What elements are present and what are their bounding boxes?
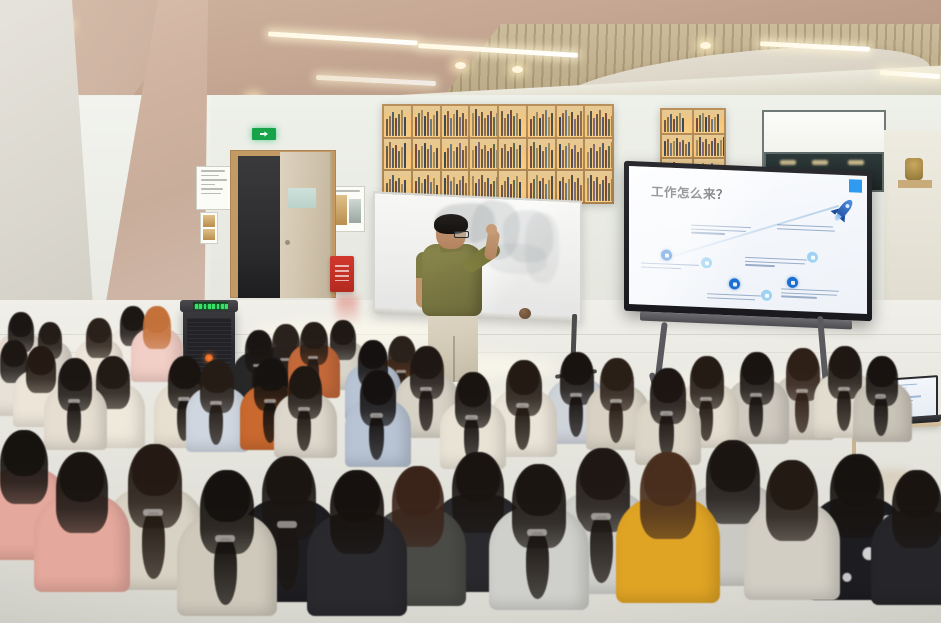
book-spine [484, 145, 486, 168]
hair-tie [210, 401, 222, 405]
speaker-display [193, 302, 228, 310]
book-spine [702, 113, 704, 132]
wall-panel-right [884, 130, 941, 310]
audience-person-head [145, 308, 169, 333]
bookshelf-cell [528, 106, 555, 137]
book-spine [608, 146, 610, 169]
audience-person-head [868, 358, 896, 387]
book-spine [673, 119, 675, 132]
hair-tie [277, 521, 296, 528]
ceiling-downlight [512, 66, 523, 73]
door-open-gap [238, 156, 280, 298]
audience-person-head [256, 360, 285, 391]
bookshelf-left [382, 104, 614, 204]
bookshelf-cell [470, 139, 497, 170]
slide-step-node-6 [807, 251, 818, 262]
hair-tie [875, 394, 887, 398]
wall-poster-notice [196, 166, 234, 210]
audience-person-head [88, 320, 110, 343]
bookshelf-cell [413, 139, 440, 170]
book-spine [481, 112, 483, 136]
book-spine [401, 110, 403, 135]
book-spine [447, 148, 449, 168]
audience-person-head [170, 358, 199, 389]
book-spine [478, 142, 480, 168]
door-handle[interactable] [285, 240, 290, 245]
book-spine [472, 150, 474, 168]
audience-person-head [334, 473, 380, 522]
audience-person-head [10, 314, 32, 337]
audience-person-head [28, 348, 54, 375]
book-spine [468, 116, 469, 136]
book-spine [513, 143, 515, 169]
audience-person-head [396, 469, 441, 516]
book-spine [682, 140, 684, 157]
audience-person-head [60, 360, 89, 391]
book-spine [421, 146, 423, 168]
rocket-icon [827, 194, 859, 227]
bookshelf-cell [442, 139, 469, 170]
book-spine [605, 176, 607, 201]
book-spine [444, 115, 446, 135]
bookshelf-cell [442, 106, 469, 137]
book-spine [386, 119, 388, 135]
audience-person-ponytail [874, 396, 887, 436]
interactive-display-unit[interactable]: 工作怎么来？ [624, 166, 879, 341]
book-spine [510, 110, 512, 136]
book-spine [688, 142, 690, 157]
hair-tie [516, 403, 529, 408]
book-spine [507, 151, 509, 169]
book-spine [699, 115, 701, 131]
bookshelf-cell [694, 110, 724, 133]
book-spine [516, 113, 518, 136]
book-spine [433, 152, 435, 169]
book-spine [430, 145, 432, 168]
book-spine [583, 118, 584, 136]
door-leaf[interactable] [280, 152, 332, 298]
book-spine [667, 117, 669, 132]
audience-person-head [363, 372, 394, 404]
book-spine [447, 111, 449, 135]
hair-tie [610, 399, 622, 403]
hair-tie [570, 393, 582, 397]
bookshelf-cell [557, 139, 584, 170]
hair-tie [68, 399, 80, 403]
book-spine [504, 118, 506, 136]
audience-person-head [830, 348, 859, 379]
book-spine [705, 117, 707, 131]
book-spine [530, 119, 532, 135]
book-spine [551, 113, 553, 136]
hair-tie [750, 393, 762, 397]
audience-person-ponytail [297, 409, 311, 452]
slide-title: 工作怎么来？ [651, 181, 729, 203]
audience-person-ponytail [142, 512, 165, 580]
book-spine [664, 120, 666, 132]
audience-person-head [204, 473, 250, 522]
book-spine [487, 115, 489, 136]
book-spine [421, 110, 423, 136]
audience-person-head [360, 342, 386, 369]
audience-person-head [332, 322, 354, 345]
book-spine [507, 114, 509, 136]
book-spine [456, 147, 458, 168]
bookshelf-cell [557, 106, 584, 137]
audience-person-head [202, 362, 231, 393]
book-spine [389, 116, 391, 136]
book-spine [392, 148, 394, 168]
hair-tie [796, 389, 808, 393]
book-spine [568, 143, 570, 169]
book-spine [453, 114, 455, 136]
audience-person-head [390, 338, 414, 363]
book-spine [501, 148, 503, 168]
book-spine [571, 149, 573, 168]
audience-person-ponytail [276, 524, 299, 592]
book-spine [717, 114, 719, 132]
hair-tie [143, 509, 162, 516]
bookshelf-cell [662, 135, 692, 158]
wall-shelf-right [898, 180, 932, 188]
book-spine [453, 151, 455, 169]
audience-person-head [742, 354, 771, 385]
bookshelf-cell [585, 171, 612, 202]
book-spine [596, 177, 598, 201]
book-spine [551, 150, 553, 168]
hair-tie [527, 529, 546, 536]
book-spine [565, 146, 567, 168]
book-spine [723, 137, 724, 156]
book-spine [583, 144, 584, 168]
book-spine [462, 113, 464, 136]
hair-tie [660, 411, 673, 416]
audience-person-head [122, 308, 144, 331]
book-spine [590, 111, 592, 135]
book-spine [404, 117, 406, 136]
book-spine [590, 148, 592, 168]
audience-person-head [516, 467, 562, 516]
book-spine [430, 119, 432, 136]
book-spine [714, 117, 716, 132]
book-spine [418, 113, 420, 135]
book-spine [490, 148, 492, 169]
bookshelf-cell [585, 139, 612, 170]
book-spine [424, 143, 426, 169]
book-spine [574, 119, 576, 136]
book-spine [418, 150, 420, 168]
book-spine [711, 141, 713, 156]
bookshelf-cell [413, 106, 440, 137]
book-spine [568, 116, 570, 136]
audience-person-head [40, 323, 61, 345]
audience-person-head [896, 473, 939, 518]
book-spine [487, 151, 489, 168]
audience-person-head [98, 358, 127, 389]
audience-person-ponytail [590, 516, 613, 584]
book-spine [459, 143, 461, 168]
audience-person-ponytail [419, 389, 433, 432]
book-spine [599, 110, 601, 136]
book-spine [608, 119, 610, 135]
book-spine [580, 111, 582, 136]
slide-text-block-3 [707, 293, 769, 303]
book-spine [504, 144, 506, 168]
book-spine [548, 117, 550, 136]
book-spine [602, 143, 604, 168]
book-spine [596, 151, 598, 169]
hair-tie [420, 387, 432, 391]
book-spine [456, 110, 458, 136]
audience-person-head [3, 433, 44, 476]
audience-person-head [266, 459, 312, 508]
book-spine [395, 145, 397, 169]
book-spine [667, 139, 669, 157]
audience-person-head [458, 374, 489, 406]
audience-person-head [412, 348, 441, 379]
book-spine [685, 144, 687, 156]
book-spine [708, 144, 710, 157]
audience-person-head [770, 463, 815, 510]
audience-person-head [562, 354, 591, 385]
audience-person-ponytail [749, 395, 763, 438]
whiteboard-eraser[interactable] [519, 308, 531, 319]
book-spine [574, 145, 576, 168]
book-spine [481, 149, 483, 169]
book-spine [580, 148, 582, 168]
book-spine [602, 180, 604, 201]
book-spine [542, 151, 544, 168]
book-spine [389, 142, 391, 168]
book-spine [602, 117, 604, 136]
book-spine [465, 146, 467, 169]
book-spine [398, 114, 400, 135]
book-spine [401, 147, 403, 168]
book-spine [478, 116, 480, 136]
book-spine [450, 144, 452, 168]
bookshelf-cell [384, 106, 411, 137]
bookshelf-cell [384, 139, 411, 170]
audience-person-head [274, 326, 298, 351]
book-spine [611, 116, 612, 136]
book-spine [484, 118, 486, 135]
emergency-exit-sign [252, 128, 276, 140]
slide-step-node-1 [661, 249, 672, 260]
slide-step-node-5 [787, 277, 798, 288]
book-spine [436, 148, 438, 168]
book-spine [548, 143, 550, 168]
book-spine [415, 144, 417, 169]
presenter-hand [486, 224, 497, 235]
book-spine [682, 118, 684, 132]
book-spine [562, 150, 564, 168]
audience-person-ponytail [609, 401, 623, 444]
wall-poster-portrait [200, 212, 218, 244]
book-spine [533, 116, 535, 136]
audience-person-ponytail [569, 395, 583, 438]
slide-text-block-4 [745, 257, 807, 270]
presenter-glasses [454, 231, 469, 238]
hair-tie [298, 407, 310, 411]
bookshelf-cell [694, 135, 724, 158]
book-spine [599, 184, 601, 201]
book-spine [459, 117, 461, 136]
book-spine [720, 140, 722, 156]
hair-tie [700, 397, 712, 401]
audience-person-head [290, 368, 319, 399]
bookshelf-cell [585, 106, 612, 137]
book-spine [590, 175, 592, 201]
book-spine [587, 115, 589, 135]
book-spine [545, 147, 547, 168]
book-spine [587, 152, 589, 168]
book-spine [565, 110, 567, 136]
ceiling-downlight [700, 42, 711, 49]
book-spine [571, 112, 573, 135]
book-spine [696, 140, 698, 156]
audience-person-head [788, 350, 817, 381]
book-spine [533, 142, 535, 168]
book-spine [475, 109, 477, 135]
slide-text-block-6 [777, 224, 839, 234]
book-spine [433, 115, 435, 136]
book-spine [490, 111, 492, 136]
book-spine [462, 150, 464, 169]
audience-person-ponytail [526, 532, 549, 600]
audience-person-head [692, 358, 721, 389]
book-spine [676, 116, 678, 132]
book-spine [510, 147, 512, 169]
book-spine [542, 114, 544, 135]
book-spine [717, 143, 719, 156]
hair-tie [264, 399, 276, 403]
door-vision-panel [288, 188, 316, 208]
display-screen[interactable]: 工作怎么来？ [629, 166, 867, 314]
book-spine [398, 151, 400, 168]
book-spine [427, 112, 429, 135]
book-spine [702, 142, 704, 157]
book-spine [539, 118, 541, 135]
audience-person-head [602, 360, 631, 391]
book-spine [673, 141, 675, 157]
book-spine [711, 119, 713, 131]
bookshelf-cell [662, 110, 692, 133]
book-spine [516, 149, 518, 168]
book-spine [562, 113, 564, 135]
book-spine [599, 147, 601, 168]
audience-person-head [302, 324, 326, 349]
audience-person-head [509, 362, 540, 394]
book-spine [501, 111, 503, 136]
book-spine [493, 117, 495, 135]
book-spine [708, 115, 710, 132]
audience-person-head [834, 457, 880, 506]
slide-text-block-1 [641, 263, 703, 273]
slide-text-block-5 [781, 288, 843, 301]
hair-tie [838, 387, 850, 391]
display-bezel: 工作怎么来？ [624, 161, 872, 321]
hair-tie [591, 513, 610, 520]
book-spine [593, 118, 595, 136]
bookshelf-cell [499, 106, 526, 137]
book-spine [404, 143, 406, 168]
hair-tie [465, 415, 478, 420]
book-spine [559, 144, 561, 169]
book-spine [472, 113, 474, 136]
book-spine [545, 110, 547, 135]
decor-plant [905, 158, 923, 180]
book-spine [679, 113, 681, 131]
hair-tie [215, 535, 234, 542]
book-spine [559, 117, 561, 135]
book-spine [536, 148, 538, 168]
audience-person-head [653, 370, 684, 402]
book-spine [493, 144, 495, 169]
book-spine [664, 141, 666, 156]
book-spine [679, 142, 681, 156]
book-spine [536, 112, 538, 136]
slide-text-block-2 [691, 225, 753, 238]
book-spine [444, 152, 446, 168]
hair-tie [308, 356, 318, 360]
book-spine [593, 144, 595, 168]
book-spine [705, 139, 707, 156]
book-spine [436, 111, 438, 136]
audience-person-head [2, 342, 26, 367]
book-spine [496, 113, 497, 135]
audience-person-head [60, 455, 105, 502]
book-spine [496, 150, 497, 168]
book-spine [386, 146, 388, 169]
book-spine [611, 179, 612, 201]
book-spine [605, 150, 607, 169]
book-spine [670, 114, 672, 132]
bookshelf-cell [528, 139, 555, 170]
audience-person-head [644, 455, 692, 505]
book-spine [577, 152, 579, 169]
bookshelf-cell [499, 139, 526, 170]
book-spine [427, 149, 429, 168]
book-spine [519, 119, 521, 136]
book-spine [424, 116, 426, 136]
book-spine [450, 118, 452, 136]
bookshelf-cell [470, 106, 497, 137]
fire-equipment-cabinet [330, 256, 354, 292]
book-spine [670, 143, 672, 156]
book-spine [611, 142, 612, 168]
book-spine [714, 138, 716, 156]
slide-step-node-3 [729, 278, 740, 289]
book-spine [392, 112, 394, 136]
book-spine [468, 142, 469, 168]
book-spine [395, 118, 397, 135]
book-spine [596, 114, 598, 136]
book-spine [577, 115, 579, 136]
book-spine [539, 145, 541, 169]
photo-scene: 工作怎么来？ [0, 0, 941, 623]
ceiling-downlight [455, 62, 466, 69]
audience-person-head [710, 443, 756, 492]
hair-tie [396, 370, 406, 374]
book-spine [676, 138, 678, 157]
book-spine [519, 145, 521, 168]
audience-person-ponytail [67, 401, 81, 444]
book-spine [530, 146, 532, 169]
hair-tie [370, 413, 383, 418]
book-spine [415, 117, 417, 135]
slide-corner-marker [849, 179, 862, 193]
book-spine [605, 113, 607, 136]
